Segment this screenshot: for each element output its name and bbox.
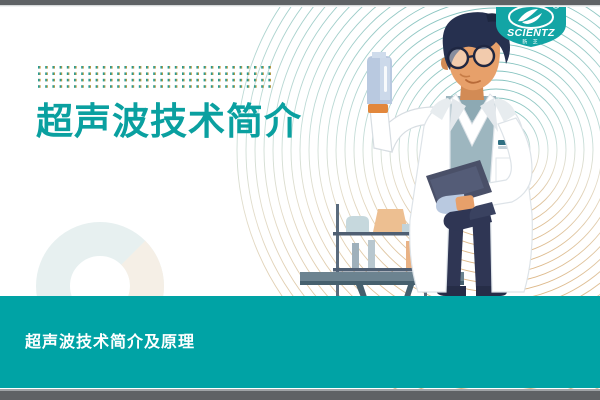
caption-text: 超声波技术简介及原理 — [25, 331, 195, 355]
presentation-slide: 超声波技术简介 R SCIENTZ 新 芝 超声波技术简介及原理 — [0, 0, 600, 400]
gloved-hand-with-test-tube — [367, 52, 392, 113]
logo-brand-text: SCIENTZ — [507, 27, 555, 39]
window-bottom-strip — [0, 391, 600, 400]
window-top-strip-shadow — [0, 5, 600, 7]
dot-grid — [38, 66, 276, 92]
logo-sub-text: 新 芝 — [522, 39, 539, 46]
slide-title: 超声波技术简介 — [36, 100, 302, 144]
scientz-logo: R SCIENTZ 新 芝 — [492, 0, 570, 48]
window-top-strip — [0, 0, 600, 5]
